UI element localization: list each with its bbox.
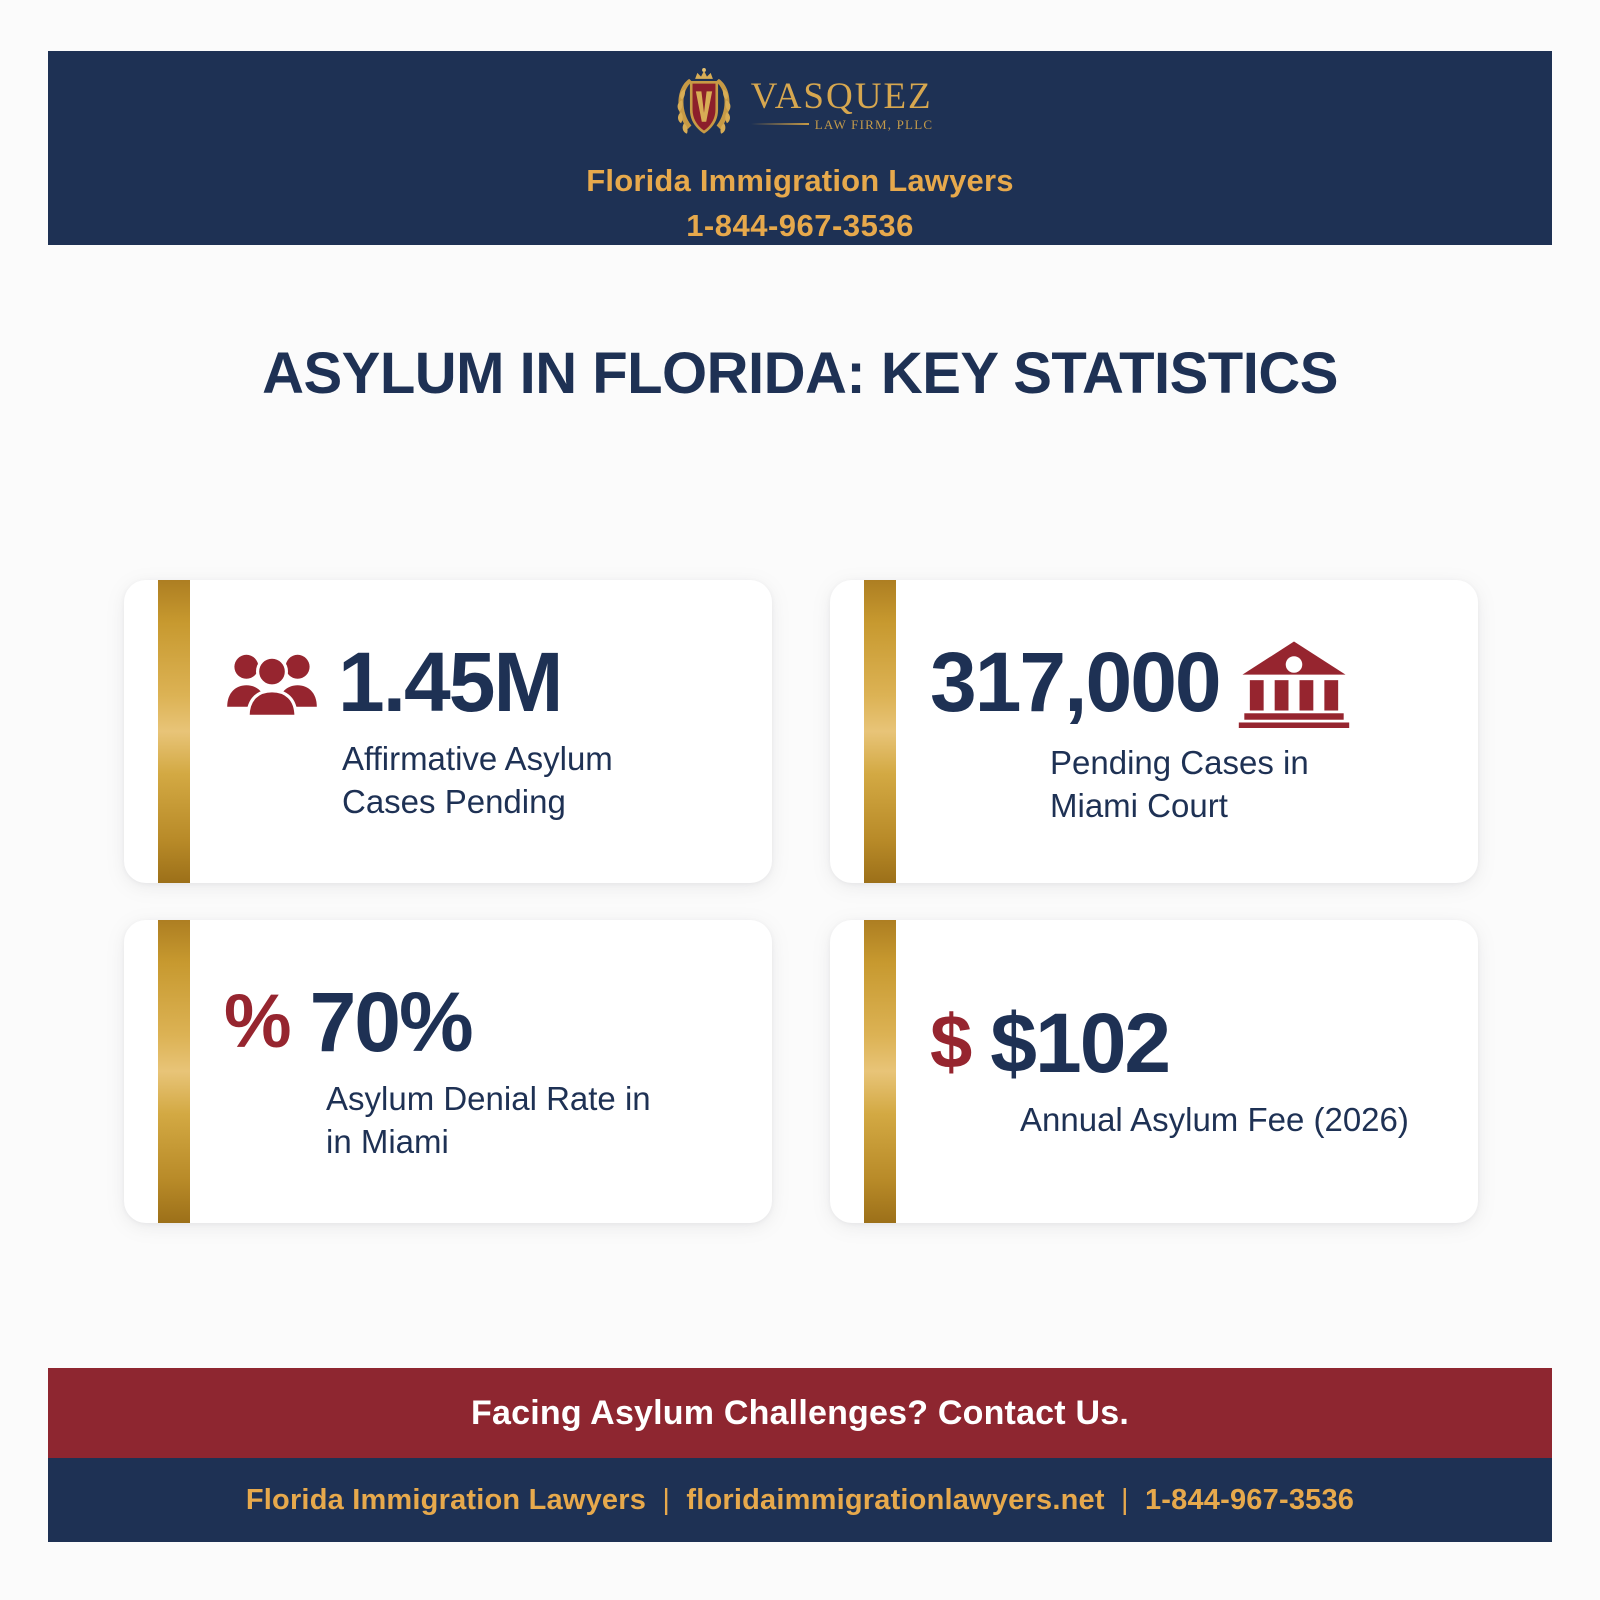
cta-text: Facing Asylum Challenges? Contact Us. [471,1394,1129,1433]
stat-value: 1.45M [338,640,561,724]
percent-icon: % [224,984,292,1060]
stat-card-grid: 1.45M Affirmative Asylum Cases Pending 3… [124,580,1478,1223]
stat-value: 317,000 [930,640,1220,724]
footer-phone[interactable]: 1-844-967-3536 [1145,1484,1354,1516]
stat-label-line1: Annual Asylum Fee (2026) [1020,1099,1448,1141]
stat-label-line1: Asylum Denial Rate in [326,1078,742,1120]
brand-subtitle: LAW FIRM, PLLC [815,118,933,131]
footer-separator-2: | [1113,1484,1137,1517]
brand-sub-row: LAW FIRM, PLLC [751,118,933,131]
stat-label-line2: in Miami [326,1121,742,1163]
brand-rule [751,123,809,125]
header-banner: VASQUEZ LAW FIRM, PLLC Florida Immigrati… [48,51,1552,245]
footer-website[interactable]: floridaimmigrationlawyers.net [686,1484,1104,1516]
brand-name: VASQUEZ [751,78,933,115]
contact-banner: Florida Immigration Lawyers | floridaimm… [48,1458,1552,1542]
stat-value: $102 [990,1001,1169,1085]
stat-label-line2: Miami Court [1050,785,1448,827]
stat-value-row: % 70% [224,980,742,1064]
shield-crest-laurel-icon [667,67,741,141]
stat-value-row: 1.45M [224,640,742,724]
gold-accent-bar [864,580,896,883]
stat-label-line1: Affirmative Asylum [342,738,742,780]
people-group-icon [224,647,320,717]
stat-card-asylum-denial-rate: % 70% Asylum Denial Rate in in Miami [124,920,772,1223]
stat-label: Asylum Denial Rate in in Miami [326,1078,742,1162]
header-phone[interactable]: 1-844-967-3536 [686,208,914,244]
stat-label: Affirmative Asylum Cases Pending [342,738,742,822]
stat-label-line2: Cases Pending [342,781,742,823]
stat-label-line1: Pending Cases in [1050,742,1448,784]
gold-accent-bar [158,920,190,1223]
brand-wordmark: VASQUEZ LAW FIRM, PLLC [751,78,933,131]
stat-card-annual-asylum-fee: $ $102 Annual Asylum Fee (2026) [830,920,1478,1223]
stat-value: 70% [310,980,472,1064]
cta-banner[interactable]: Facing Asylum Challenges? Contact Us. [48,1368,1552,1458]
header-tagline: Florida Immigration Lawyers [586,163,1013,199]
contact-line: Florida Immigration Lawyers | floridaimm… [246,1484,1354,1517]
gold-accent-bar [158,580,190,883]
gold-accent-bar [864,920,896,1223]
stat-label: Pending Cases in Miami Court [1050,742,1448,826]
stat-value-row: $ $102 [930,1001,1448,1085]
brand-logo: VASQUEZ LAW FIRM, PLLC [667,65,933,143]
infographic-page: VASQUEZ LAW FIRM, PLLC Florida Immigrati… [0,0,1600,1600]
page-title: ASYLUM IN FLORIDA: KEY STATISTICS [0,340,1600,407]
stat-card-pending-cases-miami: 317,000 Pending Cases in Miami Court [830,580,1478,883]
courthouse-icon [1238,636,1350,728]
footer-firm-name: Florida Immigration Lawyers [246,1484,646,1516]
footer-separator-1: | [654,1484,678,1517]
stat-card-affirmative-asylum: 1.45M Affirmative Asylum Cases Pending [124,580,772,883]
dollar-icon: $ [930,1005,972,1081]
stat-value-row: 317,000 [930,636,1448,728]
stat-label: Annual Asylum Fee (2026) [1020,1099,1448,1141]
